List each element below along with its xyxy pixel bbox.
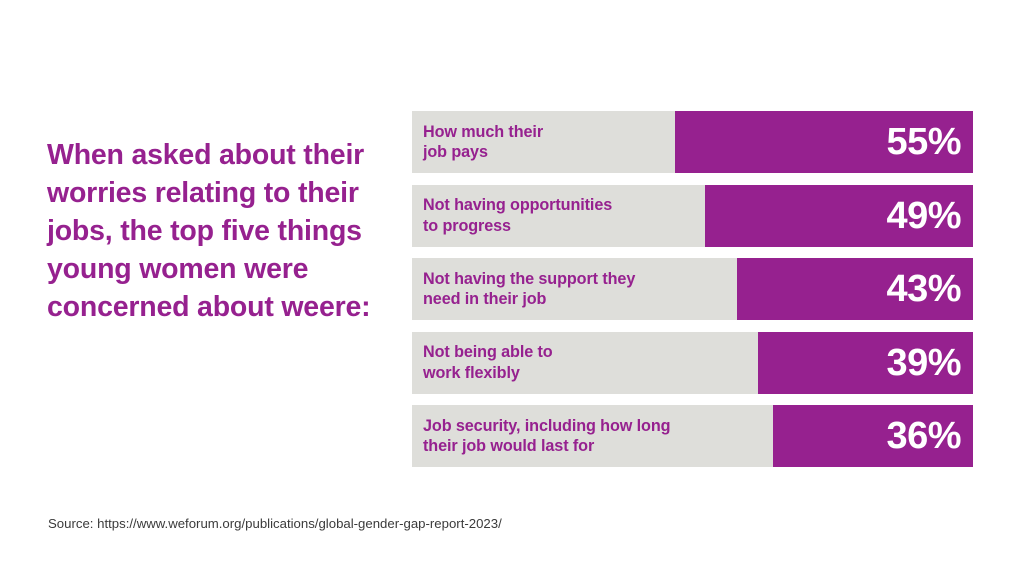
source-citation: Source: https://www.weforum.org/publicat… [48,515,502,533]
bar-row: How much their job pays 55% [412,111,973,173]
bar-value: 55% [886,111,961,173]
bar-value: 39% [886,332,961,394]
infographic-canvas: When asked about their worries relating … [0,0,1024,576]
bar-label: Not being able to work flexibly [423,332,553,394]
bar-row: Job security, including how long their j… [412,405,973,467]
bar-row: Not having the support they need in thei… [412,258,973,320]
bar-label: Job security, including how long their j… [423,405,670,467]
bar-row: Not having opportunities to progress 49% [412,185,973,247]
horizontal-bar-chart: How much their job pays 55% Not having o… [412,111,973,467]
headline-text: When asked about their worries relating … [47,136,377,326]
bar-value: 49% [886,185,961,247]
bar-label: How much their job pays [423,111,543,173]
bar-value: 43% [886,258,961,320]
bar-label: Not having the support they need in thei… [423,258,635,320]
bar-label: Not having opportunities to progress [423,185,612,247]
bar-value: 36% [886,405,961,467]
bar-row: Not being able to work flexibly 39% [412,332,973,394]
